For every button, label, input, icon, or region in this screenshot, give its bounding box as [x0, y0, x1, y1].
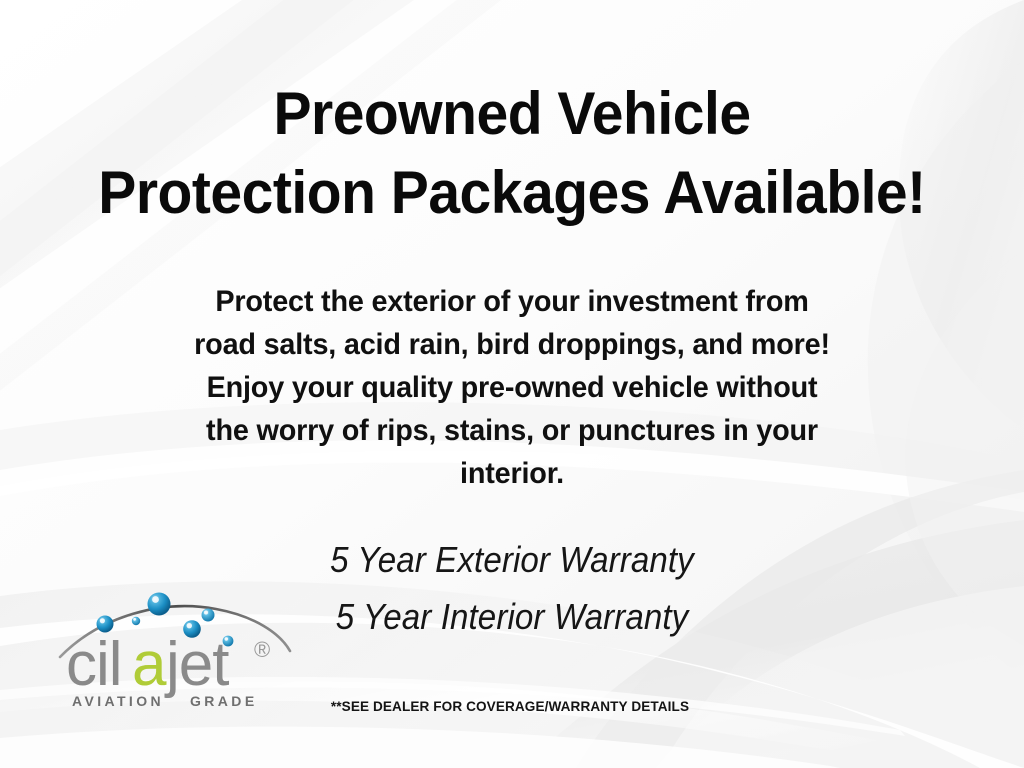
body-line-4: the worry of rips, stains, or punctures …	[20, 409, 1003, 452]
body-line-5: interior.	[20, 452, 1003, 495]
headline-line-1: Preowned Vehicle	[26, 74, 999, 153]
body-line-2: road salts, acid rain, bird droppings, a…	[20, 323, 1003, 366]
page-title: Preowned Vehicle Protection Packages Ava…	[26, 74, 999, 232]
warranty-exterior: 5 Year Exterior Warranty	[41, 531, 983, 588]
logo-tagline-aviation: AVIATION	[72, 693, 164, 709]
disclaimer-text: **SEE DEALER FOR COVERAGE/WARRANTY DETAI…	[306, 698, 713, 714]
logo-wordmark: cil a jet ®	[66, 630, 270, 699]
body-copy: Protect the exterior of your investment …	[20, 280, 1003, 495]
headline-line-2: Protection Packages Available!	[26, 153, 999, 232]
logo-tagline-grade: GRADE	[190, 693, 258, 709]
slide-canvas: Preowned Vehicle Protection Packages Ava…	[0, 0, 1024, 768]
registered-trademark-icon: ®	[254, 637, 270, 662]
logo-wordmark-cil: cil	[66, 630, 122, 699]
logo-wordmark-jet: jet	[164, 630, 229, 699]
body-line-3: Enjoy your quality pre-owned vehicle wit…	[20, 366, 1003, 409]
logo-wordmark-a: a	[132, 630, 167, 699]
cilajet-logo: cil a jet ® AVIATION GRADE	[58, 583, 293, 715]
body-line-1: Protect the exterior of your investment …	[20, 280, 1003, 323]
